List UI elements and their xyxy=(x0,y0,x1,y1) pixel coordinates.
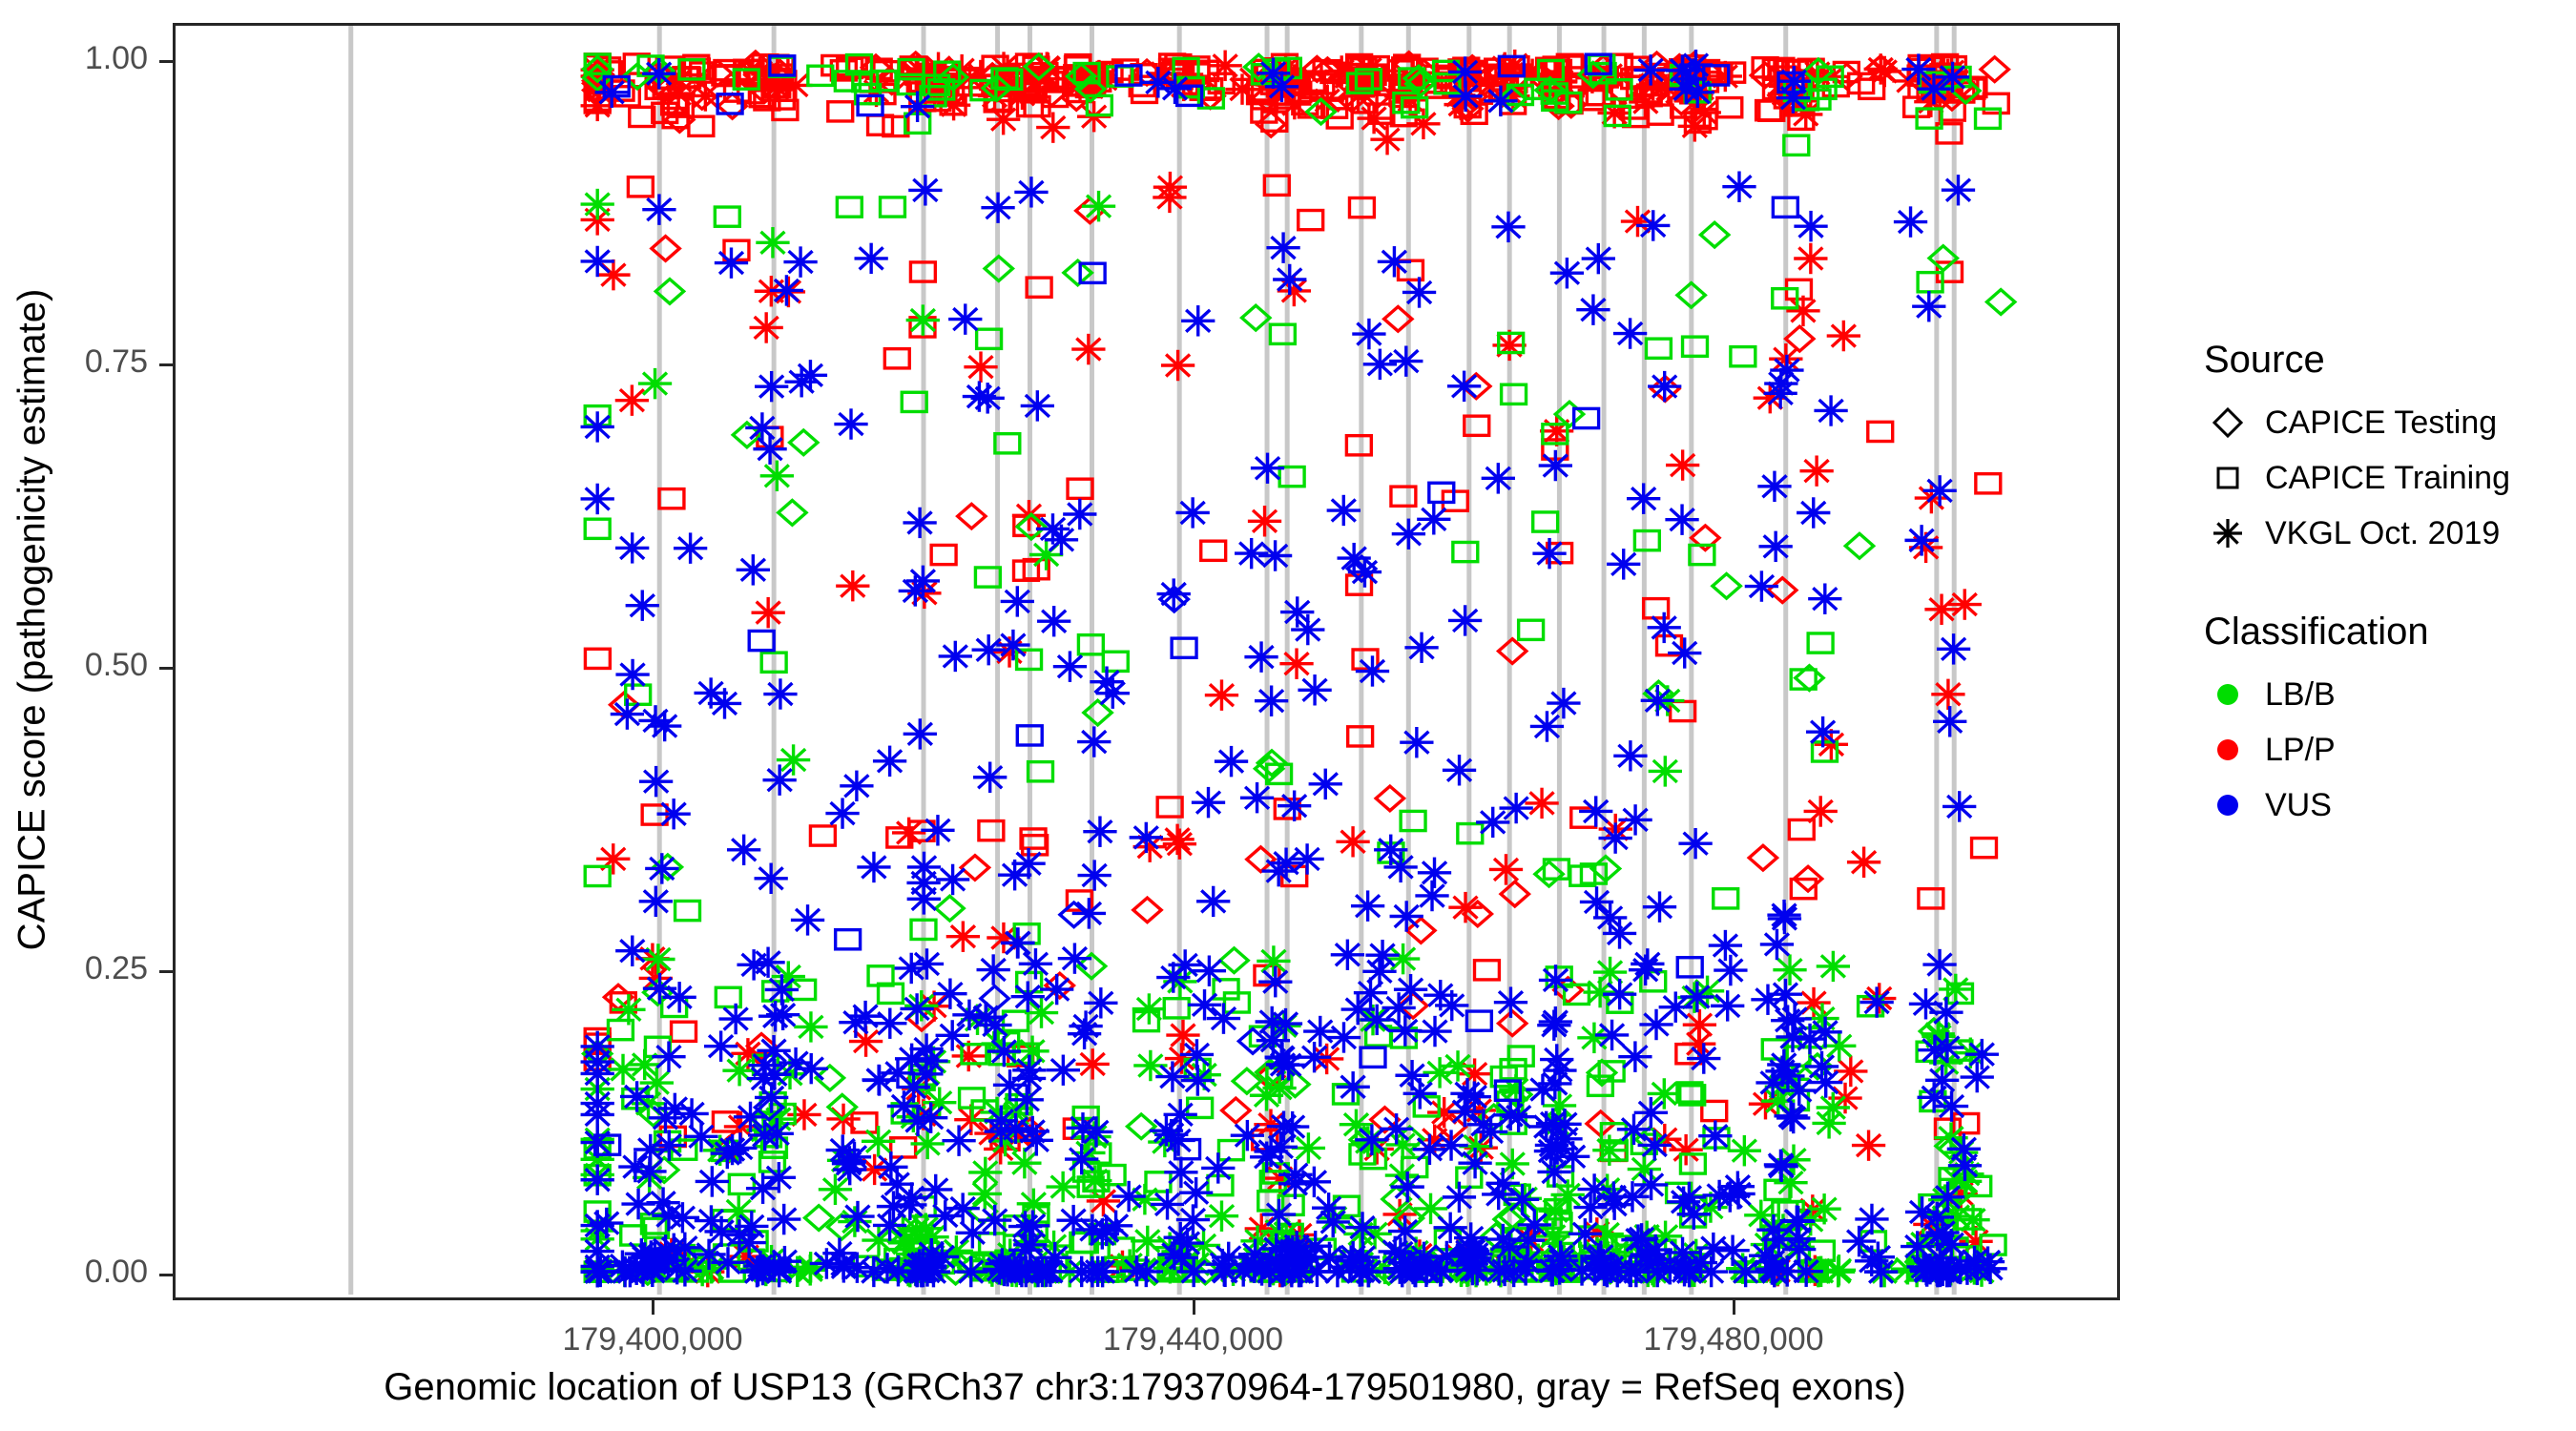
y-axis-tick xyxy=(159,970,173,973)
asterisk-marker-icon xyxy=(2200,506,2255,561)
y-axis-tick-label: 1.00 xyxy=(0,40,148,77)
y-axis-tick-label: 0.75 xyxy=(0,343,148,381)
y-axis-tick-label: 0.50 xyxy=(0,647,148,684)
y-axis-tick xyxy=(159,60,173,63)
x-axis-tick xyxy=(1193,1300,1195,1315)
x-axis-tick xyxy=(1733,1300,1735,1315)
y-axis-tick-label: 0.00 xyxy=(0,1254,148,1291)
y-axis-tick-label: 0.25 xyxy=(0,950,148,987)
x-axis-tick-label: 179,440,000 xyxy=(1103,1321,1283,1358)
plot-panel xyxy=(173,23,2120,1300)
scatter-layer xyxy=(176,26,2117,1297)
legend-item-label: CAPICE Testing xyxy=(2265,404,2497,442)
square-marker-icon xyxy=(2200,450,2255,506)
legend-item-vus[interactable]: VUS xyxy=(2200,778,2572,833)
legend-item-lb-b[interactable]: LB/B xyxy=(2200,667,2572,722)
legend-group-source: SourceCAPICE TestingCAPICE TrainingVKGL … xyxy=(2200,339,2572,561)
legend-item-label: LP/P xyxy=(2265,732,2336,769)
legend-title: Classification xyxy=(2204,611,2572,653)
x-axis-tick xyxy=(652,1300,654,1315)
legend-item-label: VUS xyxy=(2265,787,2332,824)
legend-item-lp-p[interactable]: LP/P xyxy=(2200,722,2572,778)
circle-marker-icon xyxy=(2200,722,2255,778)
chart-root: CAPICE score (pathogenicity estimate) 0.… xyxy=(0,0,2576,1431)
legend-item-label: LB/B xyxy=(2265,676,2336,714)
legend-item-label: VKGL Oct. 2019 xyxy=(2265,515,2500,552)
legend-item-capice-training[interactable]: CAPICE Training xyxy=(2200,450,2572,506)
y-axis-tick xyxy=(159,1274,173,1276)
legend: SourceCAPICE TestingCAPICE TrainingVKGL … xyxy=(2200,339,2572,882)
circle-marker-icon xyxy=(2200,667,2255,722)
y-axis-tick xyxy=(159,667,173,670)
circle-marker-icon xyxy=(2200,778,2255,833)
legend-title: Source xyxy=(2204,339,2572,382)
legend-item-capice-testing[interactable]: CAPICE Testing xyxy=(2200,395,2572,450)
y-axis-tick xyxy=(159,363,173,366)
x-axis-tick-label: 179,480,000 xyxy=(1643,1321,1823,1358)
diamond-marker-icon xyxy=(2200,395,2255,450)
x-axis-title: Genomic location of USP13 (GRCh37 chr3:1… xyxy=(0,1366,2290,1409)
legend-item-vkgl-oct-2019[interactable]: VKGL Oct. 2019 xyxy=(2200,506,2572,561)
legend-item-label: CAPICE Training xyxy=(2265,460,2510,497)
legend-group-classification: ClassificationLB/BLP/PVUS xyxy=(2200,611,2572,833)
x-axis-tick-label: 179,400,000 xyxy=(562,1321,742,1358)
